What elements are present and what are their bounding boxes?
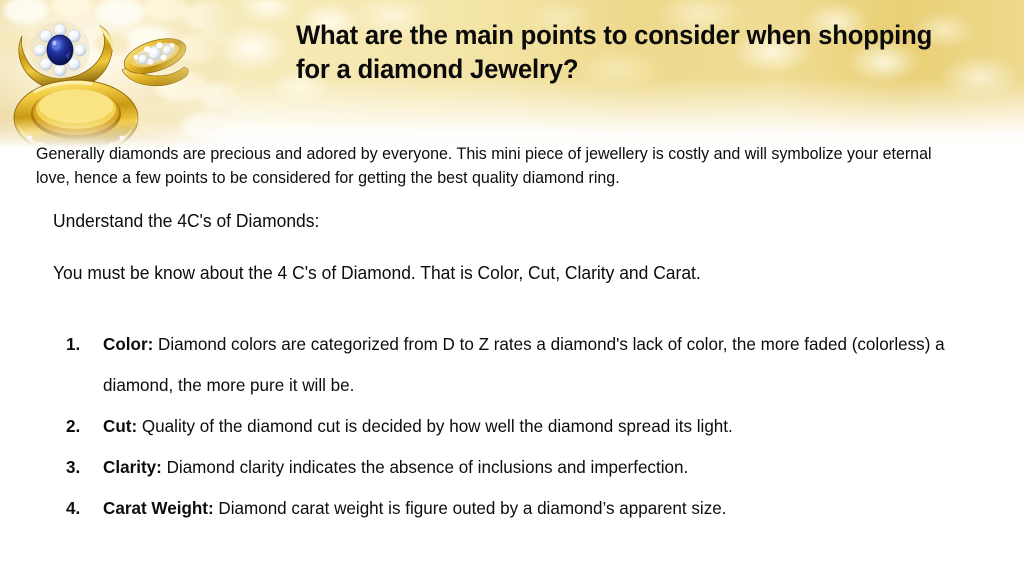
list-item-text: Quality of the diamond cut is decided by… [137,416,733,436]
page-title: What are the main points to consider whe… [296,18,942,86]
four-cs-list: 1. Color: Diamond colors are categorized… [66,324,948,529]
list-item: 4. Carat Weight: Diamond carat weight is… [66,488,948,529]
list-item-text: Diamond colors are categorized from D to… [103,334,945,395]
jewelry-photo [0,0,232,148]
section-lead-text: You must be know about the 4 C's of Diam… [53,260,701,286]
list-item-number: 3. [66,447,103,488]
list-item: 2. Cut: Quality of the diamond cut is de… [66,406,948,447]
list-item-term: Clarity: [103,457,162,477]
list-item-term: Color: [103,334,153,354]
list-item-number: 2. [66,406,103,447]
list-item-body: Cut: Quality of the diamond cut is decid… [103,406,948,447]
slide-canvas: What are the main points to consider whe… [0,0,1024,576]
list-item: 1. Color: Diamond colors are categorized… [66,324,948,406]
list-item-term: Cut: [103,416,137,436]
list-item: 3. Clarity: Diamond clarity indicates th… [66,447,948,488]
list-item-number: 1. [66,324,103,365]
list-item-text: Diamond carat weight is figure outed by … [214,498,727,518]
list-item-text: Diamond clarity indicates the absence of… [162,457,688,477]
intro-paragraph: Generally diamonds are precious and ador… [36,142,958,190]
list-item-term: Carat Weight: [103,498,214,518]
section-subheading: Understand the 4C's of Diamonds: [53,208,319,234]
list-item-body: Clarity: Diamond clarity indicates the a… [103,447,948,488]
list-item-body: Color: Diamond colors are categorized fr… [103,324,948,406]
list-item-number: 4. [66,488,103,529]
list-item-body: Carat Weight: Diamond carat weight is fi… [103,488,948,529]
header-banner: What are the main points to consider whe… [0,0,1024,148]
